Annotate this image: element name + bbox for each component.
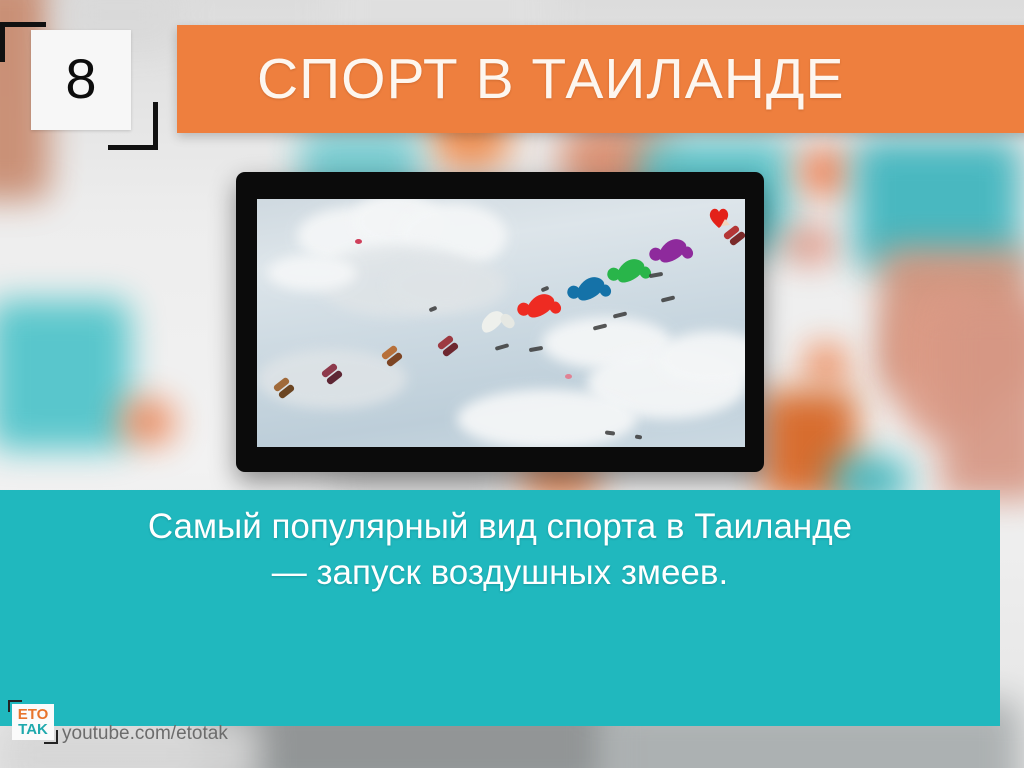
caption-panel: Самый популярный вид спорта в Таиланде —… — [0, 490, 1000, 726]
caption-line-2: — запуск воздушных змеев. — [40, 550, 960, 596]
photo-kites-in-sky — [257, 199, 745, 447]
corner-bracket-bottom-right-icon — [108, 102, 158, 150]
slide-number-badge: 8 — [0, 22, 162, 150]
kite-tail-5 — [661, 295, 676, 302]
kite-bear-blue — [572, 272, 607, 305]
caption-text: Самый популярный вид спорта в Таиланде —… — [40, 504, 960, 596]
slide-number-value: 8 — [65, 51, 96, 110]
footer-watermark: ETO TAK youtube.com/etotak — [8, 700, 228, 758]
logo-corner-bracket-bottom-right-icon — [44, 730, 58, 744]
logo-text-top: ETO — [18, 707, 49, 722]
page-title: СПОРТ В ТАИЛАНДЕ — [177, 51, 845, 108]
kite-heart-red — [707, 207, 727, 225]
photo-frame — [236, 172, 764, 472]
title-banner: СПОРТ В ТАИЛАНДЕ — [177, 25, 1024, 133]
kite-bear-red — [522, 289, 557, 322]
slide-canvas: 8 СПОРТ В ТАИЛАНДЕ — [0, 0, 1024, 768]
kite-tail-10 — [635, 435, 642, 440]
kite-bear-purple — [654, 234, 689, 267]
kite-tail-2 — [529, 346, 543, 352]
kite-white — [477, 307, 506, 336]
kite-tail-1 — [495, 343, 510, 351]
caption-line-1: Самый популярный вид спорта в Таиланде — [40, 504, 960, 550]
kite-tail-6 — [649, 272, 663, 278]
channel-url[interactable]: youtube.com/etotak — [58, 700, 228, 743]
brand-logo[interactable]: ETO TAK — [8, 700, 58, 744]
kite-bear-green — [612, 254, 647, 287]
kite-dot-small — [565, 374, 572, 379]
kite-dot-pink — [355, 239, 362, 244]
kite-tail-7 — [541, 286, 550, 293]
